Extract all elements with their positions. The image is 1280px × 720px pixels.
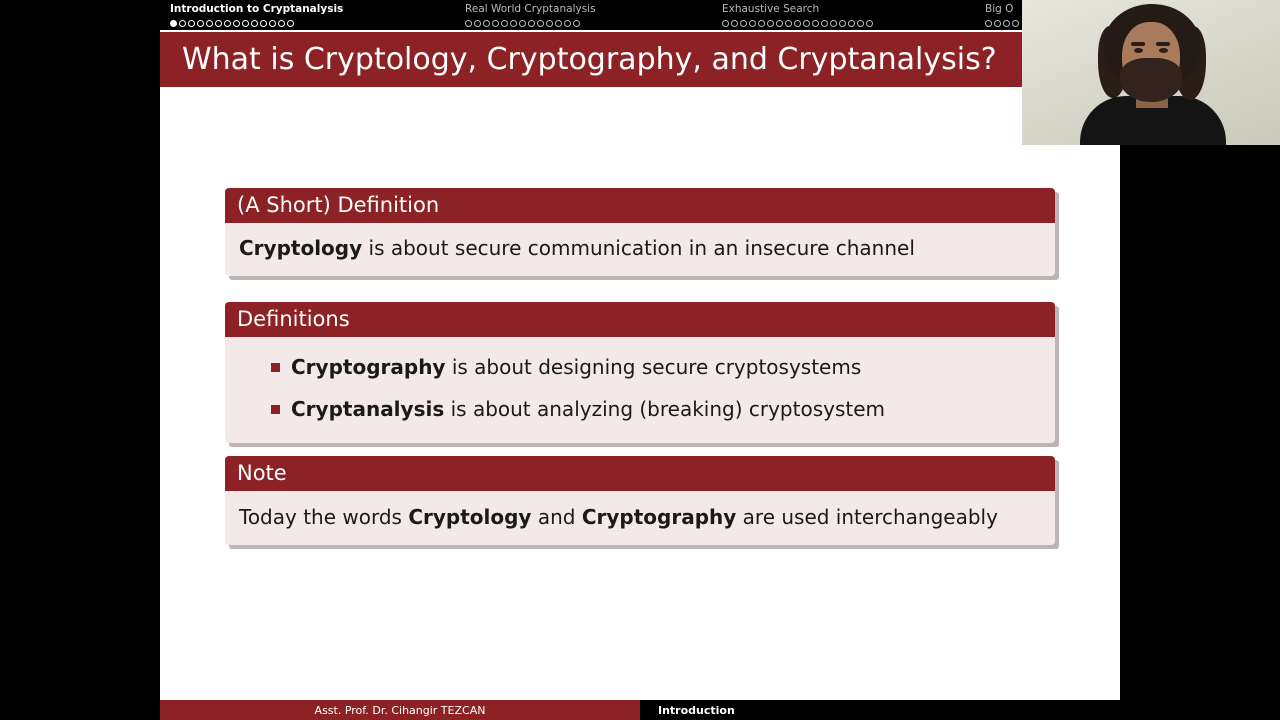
nav-dot[interactable]	[821, 20, 828, 27]
nav-dot[interactable]	[830, 20, 837, 27]
block-content: Today the words Cryptology and Cryptogra…	[225, 491, 1055, 545]
nav-dot[interactable]	[555, 20, 562, 27]
nav-section-introduction-to-cryptanalysis[interactable]: Introduction to Cryptanalysis	[170, 0, 343, 30]
nav-dot[interactable]	[857, 20, 864, 27]
presenter-eyebrow-right	[1156, 42, 1170, 46]
nav-dot[interactable]	[1003, 20, 1010, 27]
nav-dot[interactable]	[749, 20, 756, 27]
nav-dot[interactable]	[242, 20, 249, 27]
nav-dot[interactable]	[985, 20, 992, 27]
presenter-beard	[1120, 58, 1182, 102]
nav-dot[interactable]	[803, 20, 810, 27]
nav-dot[interactable]	[546, 20, 553, 27]
nav-section-exhaustive-search[interactable]: Exhaustive Search	[722, 0, 875, 30]
nav-dot[interactable]	[197, 20, 204, 27]
block-title: Definitions	[225, 302, 1055, 337]
note-text-2: and	[531, 505, 581, 529]
nav-dot[interactable]	[215, 20, 222, 27]
nav-dot[interactable]	[740, 20, 747, 27]
nav-dot[interactable]	[474, 20, 481, 27]
nav-section-dots[interactable]	[465, 18, 596, 27]
nav-section-dots[interactable]	[722, 18, 875, 27]
definitions-list: Cryptography is about designing secure c…	[239, 347, 1041, 429]
nav-section-dots[interactable]	[170, 18, 343, 27]
nav-dot[interactable]	[839, 20, 846, 27]
nav-dot[interactable]	[528, 20, 535, 27]
nav-dot[interactable]	[206, 20, 213, 27]
footer-section: Introduction	[640, 700, 1120, 720]
nav-dot[interactable]	[278, 20, 285, 27]
nav-dot[interactable]	[994, 20, 1001, 27]
bullet-square-icon	[271, 405, 280, 414]
nav-dot[interactable]	[483, 20, 490, 27]
block-definitions: Definitions Cryptography is about design…	[225, 302, 1055, 443]
footer-author: Asst. Prof. Dr. Cihangir TEZCAN	[160, 700, 640, 720]
nav-section-label: Big O	[985, 0, 1021, 16]
bullet-square-icon	[271, 363, 280, 372]
nav-dot[interactable]	[776, 20, 783, 27]
presenter-eye-left	[1134, 48, 1143, 53]
presenter-webcam-overlay[interactable]	[1022, 0, 1280, 145]
presenter-eyebrow-left	[1131, 42, 1145, 46]
nav-dot[interactable]	[731, 20, 738, 27]
nav-dot[interactable]	[866, 20, 873, 27]
nav-dot[interactable]	[794, 20, 801, 27]
term-cryptography: Cryptography	[582, 505, 736, 529]
note-text-3: are used interchangeably	[736, 505, 998, 529]
nav-dot[interactable]	[767, 20, 774, 27]
nav-dot[interactable]	[465, 20, 472, 27]
nav-dot[interactable]	[179, 20, 186, 27]
slide-title-bar: What is Cryptology, Cryptography, and Cr…	[160, 32, 1120, 87]
nav-dot[interactable]	[287, 20, 294, 27]
slide-navigation-bar: Introduction to Cryptanalysis Real World…	[160, 0, 1120, 30]
presenter-eye-right	[1159, 48, 1168, 53]
nav-section-label: Exhaustive Search	[722, 0, 875, 16]
slide-canvas: Introduction to Cryptanalysis Real World…	[160, 0, 1120, 720]
nav-dot[interactable]	[233, 20, 240, 27]
term-cryptology: Cryptology	[408, 505, 531, 529]
screen: Introduction to Cryptanalysis Real World…	[0, 0, 1280, 720]
term-cryptanalysis: Cryptanalysis	[291, 397, 444, 421]
list-item: Cryptanalysis is about analyzing (breaki…	[239, 389, 1041, 429]
nav-dot[interactable]	[170, 20, 177, 27]
nav-dot[interactable]	[812, 20, 819, 27]
nav-dot[interactable]	[501, 20, 508, 27]
nav-dot[interactable]	[510, 20, 517, 27]
nav-dot[interactable]	[537, 20, 544, 27]
nav-dot[interactable]	[260, 20, 267, 27]
nav-dot[interactable]	[785, 20, 792, 27]
nav-dot[interactable]	[564, 20, 571, 27]
definition-text: is about secure communication in an inse…	[362, 236, 915, 260]
block-title: Note	[225, 456, 1055, 491]
nav-section-label: Introduction to Cryptanalysis	[170, 0, 343, 16]
block-content: Cryptology is about secure communication…	[225, 223, 1055, 276]
nav-dot[interactable]	[1012, 20, 1019, 27]
page-title: What is Cryptology, Cryptography, and Cr…	[160, 42, 997, 77]
nav-section-dots[interactable]	[985, 18, 1021, 27]
nav-dot[interactable]	[188, 20, 195, 27]
nav-dot[interactable]	[251, 20, 258, 27]
term-cryptology: Cryptology	[239, 236, 362, 260]
nav-dot[interactable]	[492, 20, 499, 27]
block-title: (A Short) Definition	[225, 188, 1055, 223]
term-cryptography: Cryptography	[291, 355, 445, 379]
nav-section-real-world-cryptanalysis[interactable]: Real World Cryptanalysis	[465, 0, 596, 30]
nav-dot[interactable]	[519, 20, 526, 27]
note-text-1: Today the words	[239, 505, 408, 529]
nav-dot[interactable]	[758, 20, 765, 27]
block-a-short-definition: (A Short) Definition Cryptology is about…	[225, 188, 1055, 276]
nav-section-big-o[interactable]: Big O	[985, 0, 1021, 30]
nav-dot[interactable]	[269, 20, 276, 27]
block-content: Cryptography is about designing secure c…	[225, 337, 1055, 443]
nav-dot[interactable]	[722, 20, 729, 27]
definition-text: is about designing secure cryptosystems	[445, 355, 861, 379]
block-note: Note Today the words Cryptology and Cryp…	[225, 456, 1055, 545]
nav-section-label: Real World Cryptanalysis	[465, 0, 596, 16]
nav-dot[interactable]	[848, 20, 855, 27]
slide-footer: Asst. Prof. Dr. Cihangir TEZCAN Introduc…	[160, 700, 1120, 720]
nav-dot[interactable]	[224, 20, 231, 27]
list-item: Cryptography is about designing secure c…	[239, 347, 1041, 387]
definition-text: is about analyzing (breaking) cryptosyst…	[444, 397, 885, 421]
nav-dot[interactable]	[573, 20, 580, 27]
